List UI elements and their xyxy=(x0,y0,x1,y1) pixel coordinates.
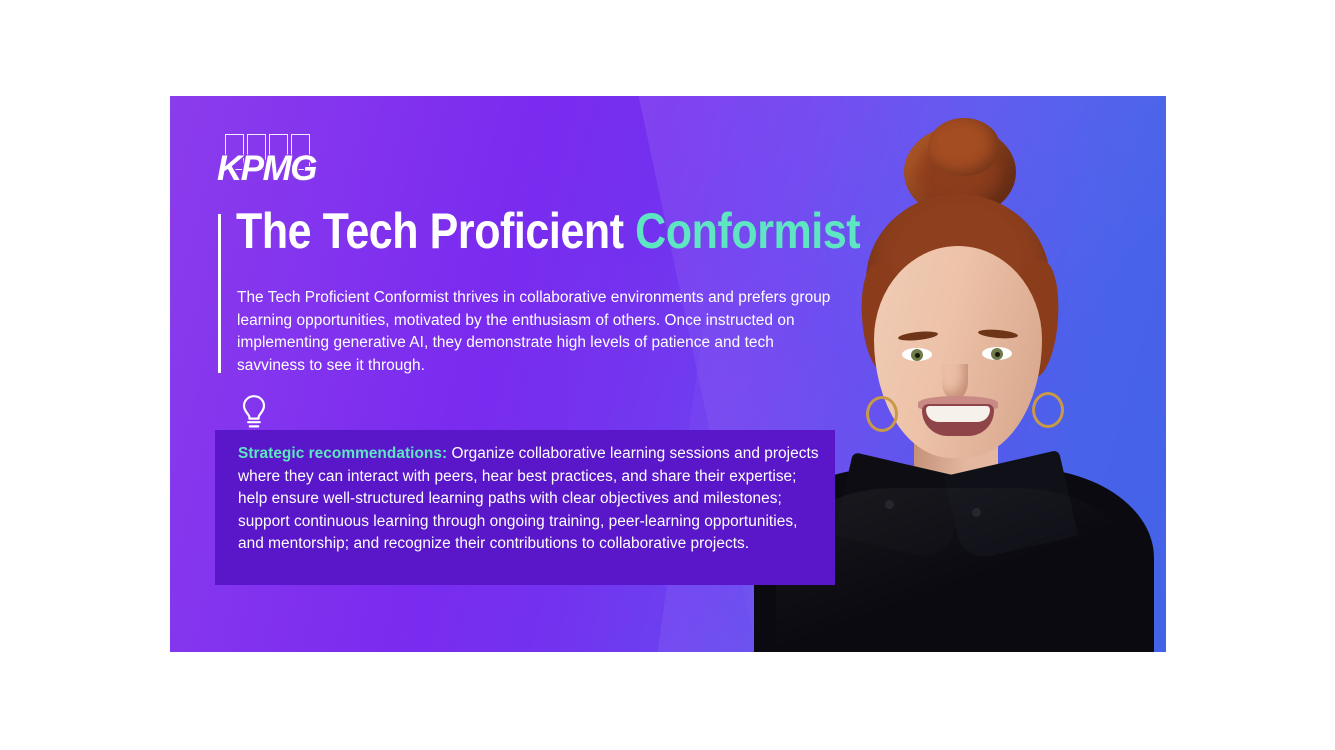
page-title-accent: Conformist xyxy=(635,203,860,259)
strategic-recommendations-text: Strategic recommendations: Organize coll… xyxy=(238,443,823,556)
accent-rule xyxy=(218,214,221,373)
shirt-button xyxy=(972,508,981,517)
nose xyxy=(942,364,968,400)
lightbulb-icon xyxy=(238,393,270,431)
eye-right xyxy=(982,347,1012,360)
hair-bun-highlight xyxy=(928,118,1000,176)
page-title: The Tech Proficient Conformist xyxy=(236,206,786,256)
kpmg-logo-wordmark: KPMG xyxy=(217,151,316,186)
shirt-button xyxy=(885,500,894,509)
earring-right xyxy=(1032,392,1064,428)
page-title-primary: The Tech Proficient xyxy=(236,203,635,259)
strategic-recommendations-label: Strategic recommendations: xyxy=(238,445,447,462)
eye-left xyxy=(902,348,932,361)
intro-paragraph: The Tech Proficient Conformist thrives i… xyxy=(237,287,837,377)
kpmg-logo: KPMG xyxy=(217,134,321,186)
earring-left xyxy=(866,396,898,432)
mouth xyxy=(922,404,994,436)
